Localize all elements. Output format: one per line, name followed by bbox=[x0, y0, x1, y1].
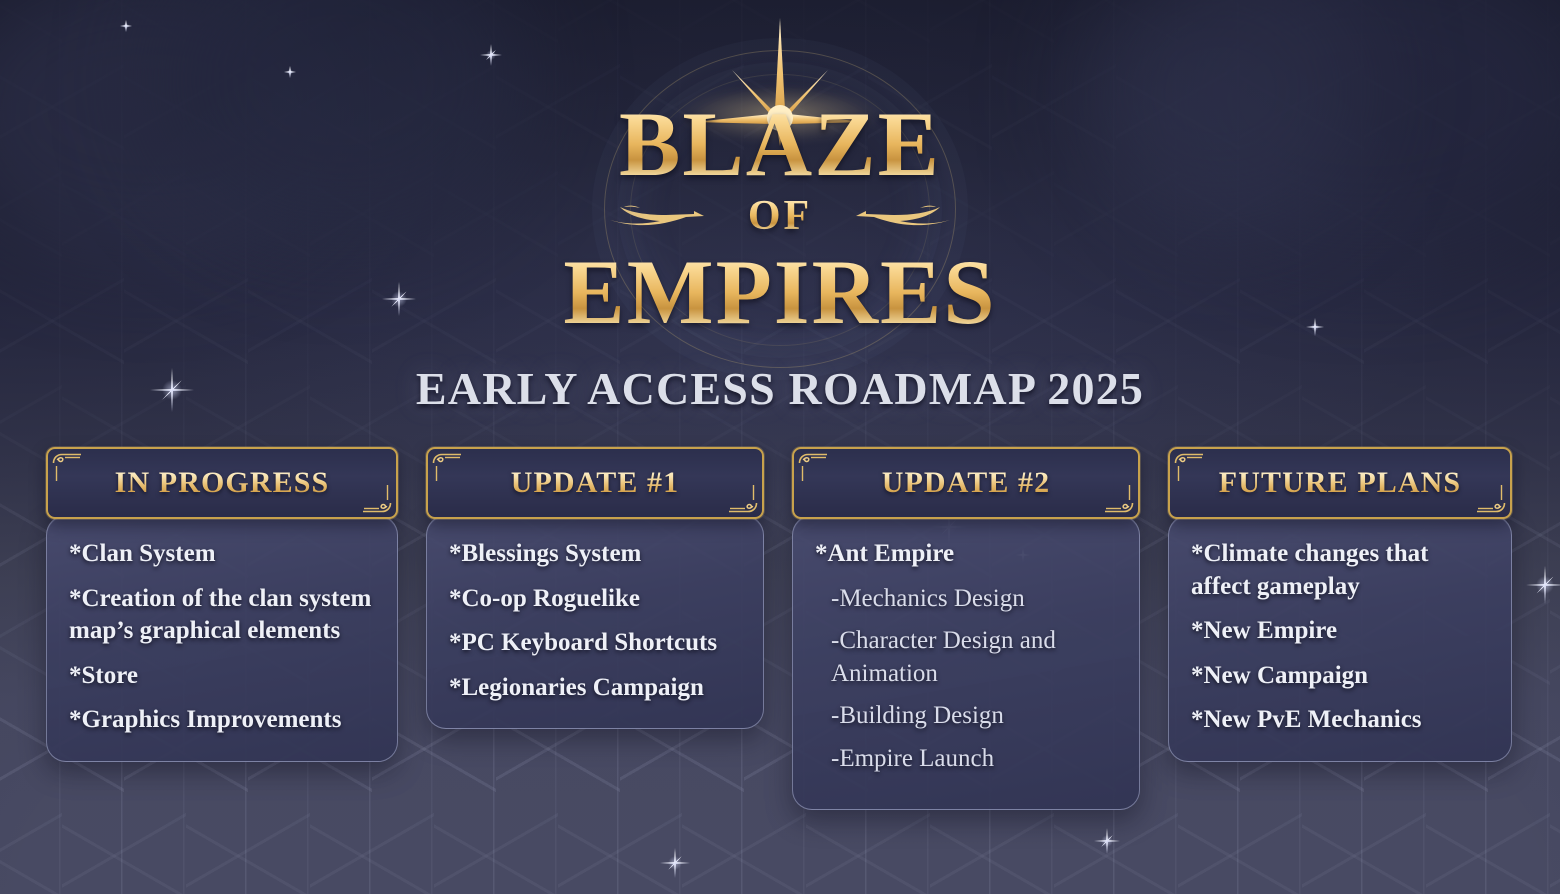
roadmap-columns: IN PROGRESS *Clan System*Creation of the… bbox=[0, 447, 1560, 810]
corner-flourish-icon bbox=[1174, 453, 1204, 483]
roadmap-item: *Legionaries Campaign bbox=[449, 672, 743, 705]
roadmap-item: *New Campaign bbox=[1191, 660, 1491, 693]
column-header[interactable]: UPDATE #2 bbox=[792, 447, 1140, 519]
roadmap-item: *Graphics Improvements bbox=[69, 704, 377, 737]
roadmap-item: *Blessings System bbox=[449, 538, 743, 571]
page-title: EARLY ACCESS ROADMAP 2025 bbox=[0, 362, 1560, 415]
column-header[interactable]: IN PROGRESS bbox=[46, 447, 398, 519]
corner-flourish-icon bbox=[52, 453, 82, 483]
roadmap-sub-item: -Building Design bbox=[831, 700, 1119, 733]
roadmap-column: UPDATE #2 *Ant Empire-Mechanics Design-C… bbox=[792, 447, 1140, 810]
roadmap-column: FUTURE PLANS *Climate changes that affec… bbox=[1168, 447, 1512, 762]
logo-title-empires: EMPIRES bbox=[563, 248, 996, 336]
roadmap-poster: BLAZE OF EMPIRES EARLY ACCESS ROADMAP 20… bbox=[0, 0, 1560, 894]
column-title: UPDATE #1 bbox=[511, 466, 680, 500]
roadmap-item: *Co-op Roguelike bbox=[449, 583, 743, 616]
game-logo: BLAZE OF EMPIRES bbox=[0, 4, 1560, 356]
column-title: IN PROGRESS bbox=[115, 466, 330, 500]
column-title: FUTURE PLANS bbox=[1219, 466, 1461, 500]
corner-flourish-icon bbox=[1104, 483, 1134, 513]
roadmap-item: *New Empire bbox=[1191, 615, 1491, 648]
corner-flourish-icon bbox=[728, 483, 758, 513]
roadmap-sub-item: -Mechanics Design bbox=[831, 583, 1119, 616]
roadmap-sub-item: -Character Design and Animation bbox=[831, 625, 1119, 690]
column-header[interactable]: FUTURE PLANS bbox=[1168, 447, 1512, 519]
roadmap-item: *PC Keyboard Shortcuts bbox=[449, 627, 743, 660]
roadmap-item: *Ant Empire bbox=[815, 538, 1119, 571]
column-title: UPDATE #2 bbox=[882, 466, 1051, 500]
column-body: *Climate changes that affect gameplay*Ne… bbox=[1168, 515, 1512, 762]
roadmap-item: *New PvE Mechanics bbox=[1191, 704, 1491, 737]
column-body: *Ant Empire-Mechanics Design-Character D… bbox=[792, 515, 1140, 810]
roadmap-item: *Clan System bbox=[69, 538, 377, 571]
flourish-right-icon bbox=[824, 203, 952, 229]
roadmap-item: *Store bbox=[69, 660, 377, 693]
roadmap-item: *Climate changes that affect gameplay bbox=[1191, 538, 1491, 603]
column-header[interactable]: UPDATE #1 bbox=[426, 447, 764, 519]
corner-flourish-icon bbox=[798, 453, 828, 483]
column-body: *Clan System*Creation of the clan system… bbox=[46, 515, 398, 762]
roadmap-column: UPDATE #1 *Blessings System*Co-op Roguel… bbox=[426, 447, 764, 729]
roadmap-column: IN PROGRESS *Clan System*Creation of the… bbox=[46, 447, 398, 762]
logo-title-blaze: BLAZE bbox=[619, 100, 941, 188]
corner-flourish-icon bbox=[1476, 483, 1506, 513]
roadmap-item: *Creation of the clan system map’s graph… bbox=[69, 583, 377, 648]
logo-title-of: OF bbox=[748, 196, 812, 236]
column-body: *Blessings System*Co-op Roguelike*PC Key… bbox=[426, 515, 764, 729]
corner-flourish-icon bbox=[432, 453, 462, 483]
roadmap-sub-item: -Empire Launch bbox=[831, 743, 1119, 776]
corner-flourish-icon bbox=[362, 483, 392, 513]
